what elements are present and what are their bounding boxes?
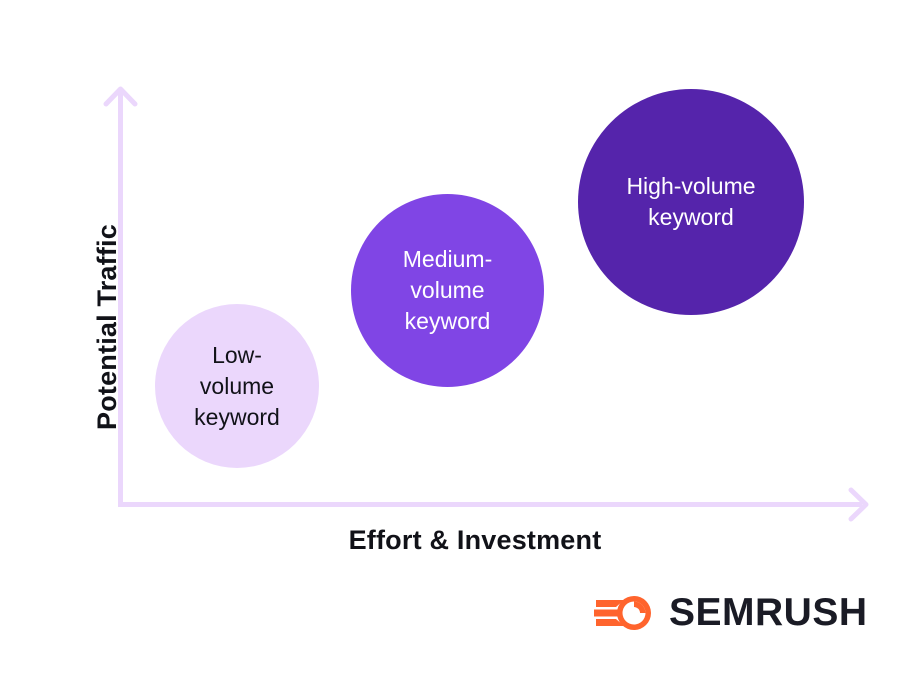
semrush-wordmark: SEMRUSH xyxy=(669,593,868,632)
bubble-low-volume: Low- volume keyword xyxy=(155,304,319,468)
semrush-comet-icon xyxy=(594,590,656,634)
y-axis-title: Potential Traffic xyxy=(92,224,123,430)
bubble-medium-volume-label: Medium- volume keyword xyxy=(397,244,498,337)
bubble-medium-volume: Medium- volume keyword xyxy=(351,194,544,387)
bubble-high-volume-label: High-volume keyword xyxy=(620,171,761,233)
bubble-low-volume-label: Low- volume keyword xyxy=(188,340,286,433)
x-axis-arrowhead xyxy=(851,490,866,519)
semrush-logo: SEMRUSH xyxy=(594,590,868,634)
chart-canvas: Potential Traffic Effort & Investment Lo… xyxy=(0,0,920,684)
bubble-high-volume: High-volume keyword xyxy=(578,89,804,315)
x-axis-title: Effort & Investment xyxy=(0,525,920,556)
y-axis-arrowhead xyxy=(106,89,135,104)
